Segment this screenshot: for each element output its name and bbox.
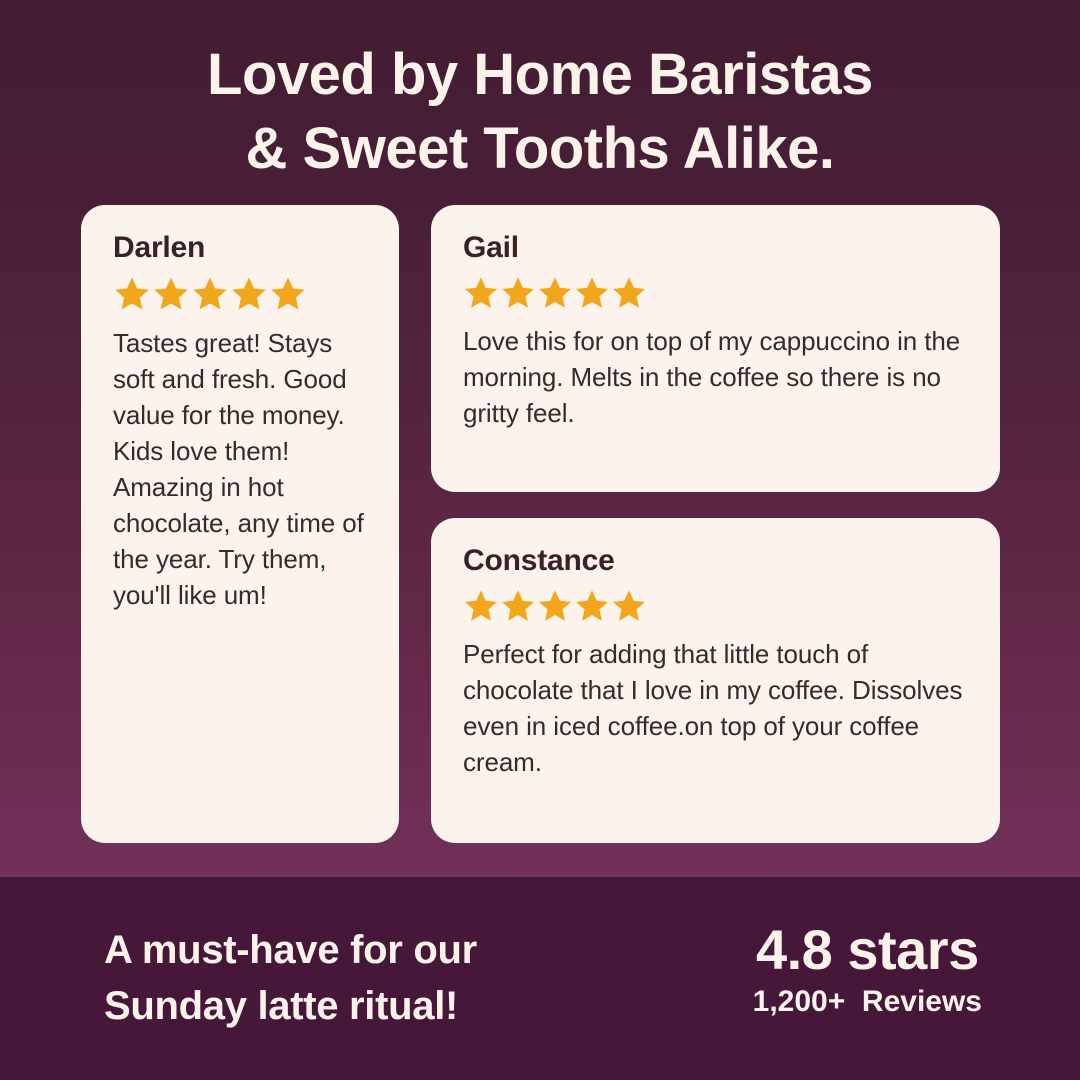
rating-stars <box>113 275 369 313</box>
star-filled-icon <box>463 275 499 311</box>
page-title-line-2: & Sweet Tooths Alike. <box>0 112 1080 186</box>
testimonial-poster: Loved by Home Baristas & Sweet Tooths Al… <box>0 0 1080 1080</box>
review-text: Tastes great! Stays soft and fresh. Good… <box>113 325 369 613</box>
footer-quote-line-1: A must-have for our <box>104 922 477 978</box>
star-filled-icon <box>537 275 573 311</box>
footer-quote-line-2: Sunday latte ritual! <box>104 978 477 1034</box>
star-filled-icon <box>611 275 647 311</box>
review-card-content: Gail Love this for on top of my cappucci… <box>431 205 1000 455</box>
footer-band: A must-have for our Sunday latte ritual!… <box>0 877 1080 1080</box>
review-text: Love this for on top of my cappuccino in… <box>463 323 970 431</box>
footer-quote: A must-have for our Sunday latte ritual! <box>104 922 477 1034</box>
star-filled-icon <box>574 588 610 624</box>
rating-stars <box>463 275 970 311</box>
star-filled-icon <box>152 275 190 313</box>
review-card-content: Constance Perfect for adding that little… <box>431 518 1000 804</box>
star-filled-icon <box>113 275 151 313</box>
reviewer-name: Constance <box>463 544 970 578</box>
star-filled-icon <box>500 588 536 624</box>
review-count: 1,200+ Reviews <box>753 983 982 1021</box>
star-filled-icon <box>611 588 647 624</box>
star-filled-icon <box>500 275 536 311</box>
star-filled-icon <box>191 275 229 313</box>
review-text: Perfect for adding that little touch of … <box>463 636 970 780</box>
rating-score: 4.8 stars <box>753 919 982 981</box>
reviewer-name: Gail <box>463 231 970 265</box>
star-filled-icon <box>463 588 499 624</box>
star-filled-icon <box>269 275 307 313</box>
rating-stars <box>463 588 970 624</box>
page-title-line-1: Loved by Home Baristas <box>0 38 1080 112</box>
star-filled-icon <box>574 275 610 311</box>
review-card-darlen: Darlen Tastes great! Stays soft and fres… <box>81 205 399 843</box>
aggregate-rating: 4.8 stars 1,200+ Reviews <box>753 919 982 1021</box>
page-title: Loved by Home Baristas & Sweet Tooths Al… <box>0 38 1080 186</box>
review-card-gail: Gail Love this for on top of my cappucci… <box>431 205 1000 492</box>
star-filled-icon <box>230 275 268 313</box>
star-filled-icon <box>537 588 573 624</box>
review-card-content: Darlen Tastes great! Stays soft and fres… <box>81 205 399 637</box>
review-card-constance: Constance Perfect for adding that little… <box>431 518 1000 843</box>
reviewer-name: Darlen <box>113 231 369 265</box>
